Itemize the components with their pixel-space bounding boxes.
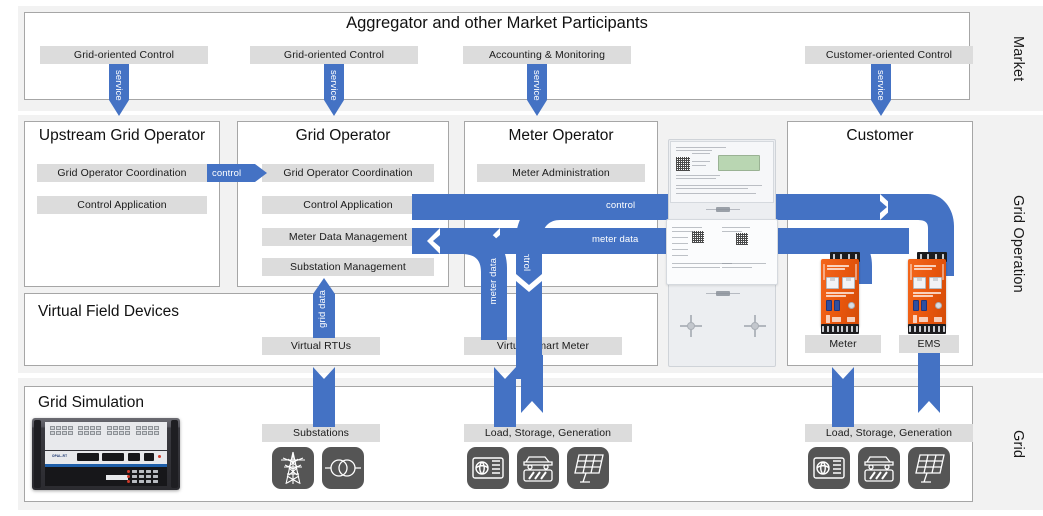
chip-meter-administration[interactable]: Meter Administration xyxy=(477,164,645,182)
arrow-meter-data-head-left xyxy=(414,228,440,254)
arrow-service-4 xyxy=(871,64,891,116)
arrow-service-1 xyxy=(109,64,129,116)
market-chip-customer-oriented-control[interactable]: Customer-oriented Control xyxy=(805,46,973,64)
appliance-load-icon-left xyxy=(467,447,509,489)
band-label-grid: Grid xyxy=(993,378,1043,510)
arrow-vsm-down-to-grid xyxy=(521,355,543,427)
arrow-vrtu-to-substations xyxy=(313,355,335,427)
market-chip-grid-oriented-control-1[interactable]: Grid-oriented Control xyxy=(40,46,208,64)
ems-hardware-device xyxy=(905,252,953,334)
chip-grid-operator-coordination[interactable]: Grid Operator Coordination xyxy=(262,164,434,182)
transformer-icon xyxy=(322,447,364,489)
appliance-load-icon-right xyxy=(808,447,850,489)
chip-meter-data-management[interactable]: Meter Data Management xyxy=(262,228,434,246)
real-time-simulator-rack: OPAL-RT xyxy=(32,418,180,490)
chip-load-storage-generation-right[interactable]: Load, Storage, Generation xyxy=(805,424,973,442)
arrow-control-bus xyxy=(412,194,909,220)
solar-panel-icon-left xyxy=(567,447,609,489)
chip-grid-operator-control-application[interactable]: Control Application xyxy=(262,196,434,214)
actor-title-grid-operator: Grid Operator xyxy=(237,127,449,145)
market-chip-grid-oriented-control-2[interactable]: Grid-oriented Control xyxy=(250,46,418,64)
arrow-service-2 xyxy=(324,64,344,116)
band-label-market: Market xyxy=(993,6,1043,111)
smart-meter-photo xyxy=(662,127,782,373)
chip-load-storage-generation-left[interactable]: Load, Storage, Generation xyxy=(464,424,632,442)
virtual-field-devices-title: Virtual Field Devices xyxy=(38,303,298,321)
arrow-meter-to-grid xyxy=(832,353,854,427)
meter-hardware-device xyxy=(818,252,866,334)
rack-brand-label: OPAL-RT xyxy=(52,454,67,458)
chip-upstream-grid-operator-coordination[interactable]: Grid Operator Coordination xyxy=(37,164,207,182)
chip-substation-management[interactable]: Substation Management xyxy=(262,258,434,276)
arrow-grid-data-up xyxy=(313,278,335,338)
ev-battery-storage-icon-left xyxy=(517,447,559,489)
band-label-grid-operation: Grid Operation xyxy=(993,115,1043,373)
chip-upstream-control-application[interactable]: Control Application xyxy=(37,196,207,214)
arrow-ems-to-grid xyxy=(918,353,940,427)
actor-title-meter-operator: Meter Operator xyxy=(464,127,658,145)
actor-title-customer: Customer xyxy=(787,127,973,145)
architecture-diagram: Market Grid Operation Grid Aggregator an… xyxy=(0,0,1043,516)
chip-customer-ems[interactable]: EMS xyxy=(899,335,959,353)
arrow-vsm-up-from-grid xyxy=(494,355,516,427)
arrow-meter-data-up-from-virtual-smart-meter xyxy=(455,228,537,340)
solar-panel-icon-right xyxy=(908,447,950,489)
actor-title-upstream-grid-operator: Upstream Grid Operator xyxy=(24,127,220,145)
market-chip-accounting-monitoring[interactable]: Accounting & Monitoring xyxy=(463,46,631,64)
arrow-control-upstream-to-grid-operator xyxy=(207,164,267,182)
market-title: Aggregator and other Market Participants xyxy=(24,14,970,33)
arrow-service-3 xyxy=(527,64,547,116)
chip-virtual-rtus[interactable]: Virtual RTUs xyxy=(262,337,380,355)
ev-battery-storage-icon-right xyxy=(858,447,900,489)
grid-simulation-title: Grid Simulation xyxy=(38,394,298,412)
transmission-tower-icon xyxy=(272,447,314,489)
chip-customer-meter[interactable]: Meter xyxy=(805,335,881,353)
